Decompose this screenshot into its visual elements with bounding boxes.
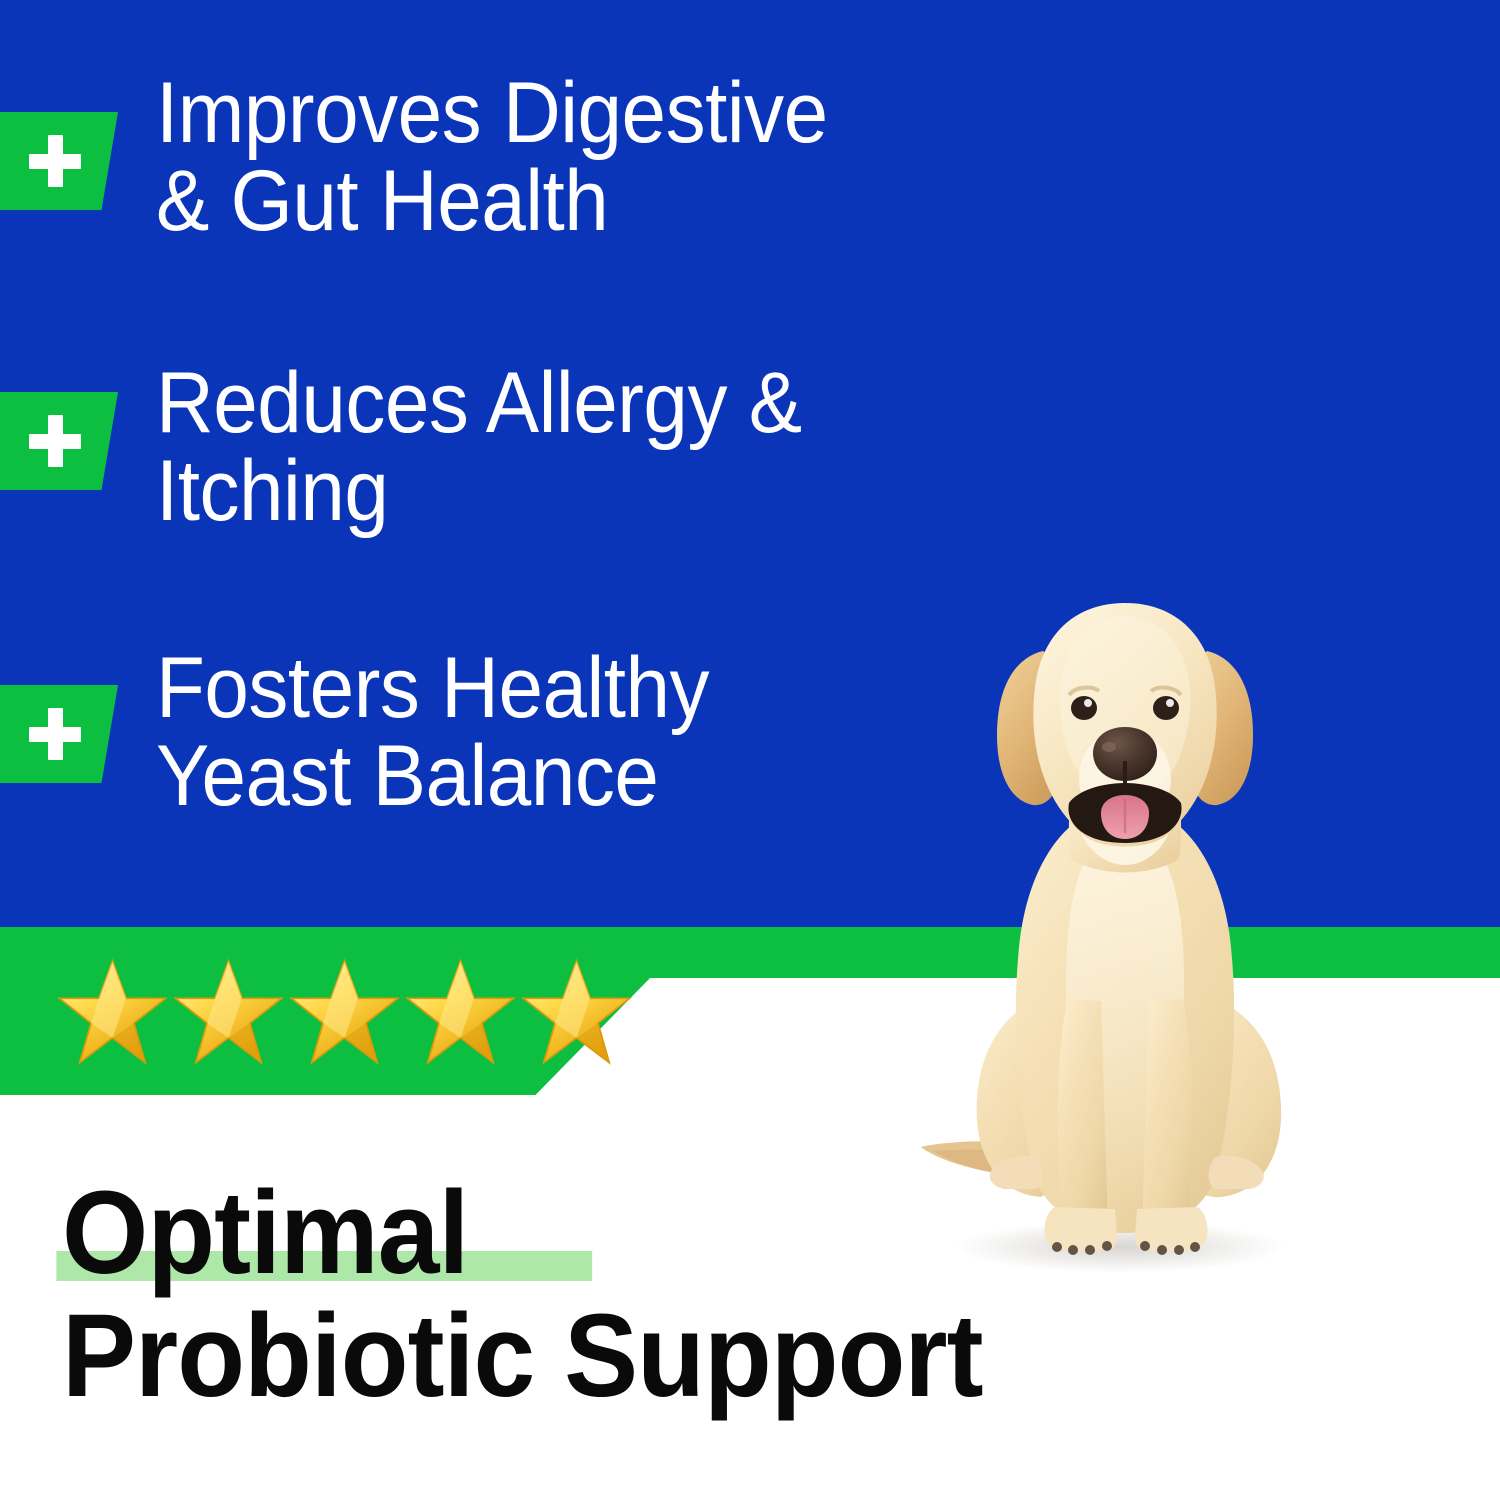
product-infographic: Improves Digestive & Gut Health Reduces … xyxy=(0,0,1500,1500)
headline-line-2: Probiotic Support xyxy=(62,1295,1209,1418)
benefit-label-1: Improves Digestive & Gut Health xyxy=(156,70,828,245)
star-icon xyxy=(288,958,401,1068)
star-icon xyxy=(404,958,517,1068)
dog-eye-right xyxy=(1153,696,1179,720)
plus-icon xyxy=(29,135,81,187)
benefit-item-3: Fosters Healthy Yeast Balance xyxy=(0,645,751,820)
product-headline: Optimal Probiotic Support xyxy=(62,1172,1282,1417)
plus-icon xyxy=(29,415,81,467)
star-icon xyxy=(172,958,285,1068)
benefit-label-3: Fosters Healthy Yeast Balance xyxy=(156,645,709,820)
star-rating xyxy=(56,958,633,1068)
plus-badge-2 xyxy=(0,392,118,490)
plus-badge-1 xyxy=(0,112,118,210)
plus-badge-3 xyxy=(0,685,118,783)
dog-eye-left xyxy=(1071,696,1097,720)
benefit-label-2: Reduces Allergy & Itching xyxy=(156,360,802,535)
benefit-item-1: Improves Digestive & Gut Health xyxy=(0,70,878,245)
headline-line-1: Optimal xyxy=(62,1172,1209,1295)
benefit-item-2: Reduces Allergy & Itching xyxy=(0,360,850,535)
star-icon xyxy=(520,958,633,1068)
plus-icon xyxy=(29,708,81,760)
headline-word-optimal: Optimal xyxy=(62,1172,468,1295)
star-icon xyxy=(56,958,169,1068)
